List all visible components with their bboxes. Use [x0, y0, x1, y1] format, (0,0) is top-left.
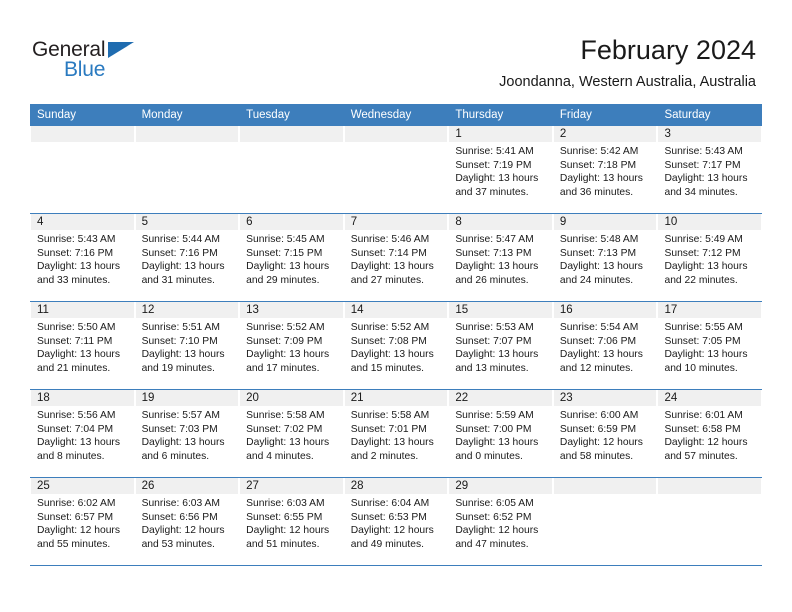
sunrise-text: Sunrise: 5:54 AM [560, 321, 651, 335]
day-sun-info: Sunrise: 5:53 AMSunset: 7:07 PMDaylight:… [449, 318, 552, 375]
weekday-header-tuesday: Tuesday [239, 104, 344, 126]
sunrise-text: Sunrise: 6:03 AM [142, 497, 233, 511]
day-number [31, 126, 134, 142]
daylight-text-line1: Daylight: 13 hours [351, 436, 442, 450]
day-sun-info: Sunrise: 5:58 AMSunset: 7:02 PMDaylight:… [240, 406, 343, 463]
day-number [345, 126, 448, 142]
day-number: 13 [240, 302, 343, 318]
day-number [240, 126, 343, 142]
calendar-day-cell[interactable]: 5Sunrise: 5:44 AMSunset: 7:16 PMDaylight… [135, 214, 240, 301]
day-number [658, 478, 761, 494]
sunset-text: Sunset: 6:56 PM [142, 511, 233, 525]
day-sun-info: Sunrise: 5:41 AMSunset: 7:19 PMDaylight:… [449, 142, 552, 199]
sunrise-text: Sunrise: 5:59 AM [455, 409, 546, 423]
calendar-day-cell[interactable]: 24Sunrise: 6:01 AMSunset: 6:58 PMDayligh… [657, 390, 762, 477]
sunrise-text: Sunrise: 5:52 AM [246, 321, 337, 335]
page-title: February 2024 [499, 34, 756, 66]
calendar-day-cell[interactable]: 8Sunrise: 5:47 AMSunset: 7:13 PMDaylight… [448, 214, 553, 301]
daylight-text-line2: and 2 minutes. [351, 450, 442, 464]
day-sun-info: Sunrise: 5:48 AMSunset: 7:13 PMDaylight:… [554, 230, 657, 287]
calendar-week-row: 1Sunrise: 5:41 AMSunset: 7:19 PMDaylight… [30, 126, 762, 214]
daylight-text-line2: and 29 minutes. [246, 274, 337, 288]
weekday-header-row: Sunday Monday Tuesday Wednesday Thursday… [30, 104, 762, 126]
sunset-text: Sunset: 6:59 PM [560, 423, 651, 437]
calendar-day-cell[interactable]: 3Sunrise: 5:43 AMSunset: 7:17 PMDaylight… [657, 126, 762, 213]
sunrise-text: Sunrise: 5:46 AM [351, 233, 442, 247]
daylight-text-line2: and 10 minutes. [664, 362, 755, 376]
sunset-text: Sunset: 7:01 PM [351, 423, 442, 437]
sunset-text: Sunset: 6:53 PM [351, 511, 442, 525]
day-number: 8 [449, 214, 552, 230]
calendar-day-cell[interactable]: 23Sunrise: 6:00 AMSunset: 6:59 PMDayligh… [553, 390, 658, 477]
calendar-day-cell[interactable]: 20Sunrise: 5:58 AMSunset: 7:02 PMDayligh… [239, 390, 344, 477]
sunset-text: Sunset: 7:07 PM [455, 335, 546, 349]
calendar-page: General Blue February 2024 Joondanna, We… [0, 0, 792, 612]
daylight-text-line1: Daylight: 13 hours [37, 260, 128, 274]
daylight-text-line2: and 24 minutes. [560, 274, 651, 288]
daylight-text-line2: and 6 minutes. [142, 450, 233, 464]
sunrise-text: Sunrise: 5:50 AM [37, 321, 128, 335]
day-sun-info: Sunrise: 6:04 AMSunset: 6:53 PMDaylight:… [345, 494, 448, 551]
calendar-week-row: 4Sunrise: 5:43 AMSunset: 7:16 PMDaylight… [30, 214, 762, 302]
day-number [554, 478, 657, 494]
daylight-text-line1: Daylight: 13 hours [246, 348, 337, 362]
day-sun-info: Sunrise: 5:47 AMSunset: 7:13 PMDaylight:… [449, 230, 552, 287]
calendar-day-cell[interactable]: 2Sunrise: 5:42 AMSunset: 7:18 PMDaylight… [553, 126, 658, 213]
daylight-text-line1: Daylight: 13 hours [351, 260, 442, 274]
sunrise-text: Sunrise: 5:42 AM [560, 145, 651, 159]
sunrise-text: Sunrise: 5:48 AM [560, 233, 651, 247]
sunrise-text: Sunrise: 6:03 AM [246, 497, 337, 511]
sunrise-text: Sunrise: 6:00 AM [560, 409, 651, 423]
weekday-header-wednesday: Wednesday [344, 104, 449, 126]
day-sun-info: Sunrise: 5:44 AMSunset: 7:16 PMDaylight:… [136, 230, 239, 287]
day-number: 11 [31, 302, 134, 318]
sunrise-text: Sunrise: 5:49 AM [664, 233, 755, 247]
sunrise-text: Sunrise: 5:43 AM [37, 233, 128, 247]
sunset-text: Sunset: 7:14 PM [351, 247, 442, 261]
sunrise-text: Sunrise: 6:04 AM [351, 497, 442, 511]
day-sun-info: Sunrise: 5:42 AMSunset: 7:18 PMDaylight:… [554, 142, 657, 199]
calendar-day-cell[interactable]: 11Sunrise: 5:50 AMSunset: 7:11 PMDayligh… [30, 302, 135, 389]
calendar-day-cell-empty [553, 478, 658, 565]
calendar-day-cell[interactable]: 26Sunrise: 6:03 AMSunset: 6:56 PMDayligh… [135, 478, 240, 565]
calendar-day-cell[interactable]: 27Sunrise: 6:03 AMSunset: 6:55 PMDayligh… [239, 478, 344, 565]
daylight-text-line2: and 4 minutes. [246, 450, 337, 464]
location-subtitle: Joondanna, Western Australia, Australia [499, 72, 756, 92]
sunset-text: Sunset: 7:05 PM [664, 335, 755, 349]
calendar-day-cell[interactable]: 15Sunrise: 5:53 AMSunset: 7:07 PMDayligh… [448, 302, 553, 389]
daylight-text-line1: Daylight: 12 hours [560, 436, 651, 450]
daylight-text-line1: Daylight: 13 hours [37, 436, 128, 450]
day-number: 29 [449, 478, 552, 494]
logo-text-blue: Blue [64, 58, 105, 82]
weekday-header-sunday: Sunday [30, 104, 135, 126]
day-sun-info: Sunrise: 6:02 AMSunset: 6:57 PMDaylight:… [31, 494, 134, 551]
calendar-day-cell[interactable]: 16Sunrise: 5:54 AMSunset: 7:06 PMDayligh… [553, 302, 658, 389]
day-number: 15 [449, 302, 552, 318]
daylight-text-line1: Daylight: 13 hours [664, 260, 755, 274]
daylight-text-line2: and 21 minutes. [37, 362, 128, 376]
sunrise-text: Sunrise: 5:55 AM [664, 321, 755, 335]
weekday-header-monday: Monday [135, 104, 240, 126]
day-sun-info: Sunrise: 6:00 AMSunset: 6:59 PMDaylight:… [554, 406, 657, 463]
day-sun-info: Sunrise: 5:54 AMSunset: 7:06 PMDaylight:… [554, 318, 657, 375]
day-number: 9 [554, 214, 657, 230]
day-sun-info: Sunrise: 5:56 AMSunset: 7:04 PMDaylight:… [31, 406, 134, 463]
calendar-day-cell-empty [239, 126, 344, 213]
day-number: 25 [31, 478, 134, 494]
day-number: 5 [136, 214, 239, 230]
sunrise-text: Sunrise: 5:53 AM [455, 321, 546, 335]
daylight-text-line1: Daylight: 13 hours [560, 172, 651, 186]
daylight-text-line1: Daylight: 13 hours [37, 348, 128, 362]
calendar-day-cell[interactable]: 25Sunrise: 6:02 AMSunset: 6:57 PMDayligh… [30, 478, 135, 565]
day-number: 16 [554, 302, 657, 318]
day-sun-info: Sunrise: 5:43 AMSunset: 7:17 PMDaylight:… [658, 142, 761, 199]
daylight-text-line1: Daylight: 13 hours [664, 348, 755, 362]
sunrise-text: Sunrise: 5:45 AM [246, 233, 337, 247]
calendar-day-cell[interactable]: 10Sunrise: 5:49 AMSunset: 7:12 PMDayligh… [657, 214, 762, 301]
calendar-day-cell-empty [135, 126, 240, 213]
day-number: 17 [658, 302, 761, 318]
sunset-text: Sunset: 7:11 PM [37, 335, 128, 349]
sunset-text: Sunset: 7:13 PM [455, 247, 546, 261]
weekday-header-thursday: Thursday [448, 104, 553, 126]
sunrise-text: Sunrise: 5:51 AM [142, 321, 233, 335]
day-number: 22 [449, 390, 552, 406]
sunset-text: Sunset: 7:03 PM [142, 423, 233, 437]
weekday-header-friday: Friday [553, 104, 658, 126]
daylight-text-line2: and 26 minutes. [455, 274, 546, 288]
daylight-text-line2: and 17 minutes. [246, 362, 337, 376]
calendar-day-cell[interactable]: 12Sunrise: 5:51 AMSunset: 7:10 PMDayligh… [135, 302, 240, 389]
daylight-text-line1: Daylight: 12 hours [246, 524, 337, 538]
day-number: 24 [658, 390, 761, 406]
calendar-day-cell[interactable]: 17Sunrise: 5:55 AMSunset: 7:05 PMDayligh… [657, 302, 762, 389]
sunrise-text: Sunrise: 5:58 AM [351, 409, 442, 423]
daylight-text-line1: Daylight: 12 hours [351, 524, 442, 538]
day-number: 10 [658, 214, 761, 230]
day-sun-info: Sunrise: 5:43 AMSunset: 7:16 PMDaylight:… [31, 230, 134, 287]
daylight-text-line1: Daylight: 13 hours [142, 436, 233, 450]
sunrise-text: Sunrise: 5:44 AM [142, 233, 233, 247]
daylight-text-line1: Daylight: 13 hours [246, 260, 337, 274]
sunset-text: Sunset: 7:16 PM [37, 247, 128, 261]
calendar-week-row: 11Sunrise: 5:50 AMSunset: 7:11 PMDayligh… [30, 302, 762, 390]
daylight-text-line1: Daylight: 12 hours [455, 524, 546, 538]
daylight-text-line2: and 49 minutes. [351, 538, 442, 552]
sunrise-text: Sunrise: 5:52 AM [351, 321, 442, 335]
day-number: 23 [554, 390, 657, 406]
calendar-day-cell[interactable]: 6Sunrise: 5:45 AMSunset: 7:15 PMDaylight… [239, 214, 344, 301]
generalblue-logo[interactable]: General Blue [32, 38, 172, 84]
sunrise-text: Sunrise: 5:47 AM [455, 233, 546, 247]
daylight-text-line2: and 31 minutes. [142, 274, 233, 288]
daylight-text-line2: and 8 minutes. [37, 450, 128, 464]
sunset-text: Sunset: 7:13 PM [560, 247, 651, 261]
calendar-body: 1Sunrise: 5:41 AMSunset: 7:19 PMDaylight… [30, 126, 762, 566]
day-number: 28 [345, 478, 448, 494]
day-sun-info: Sunrise: 5:51 AMSunset: 7:10 PMDaylight:… [136, 318, 239, 375]
day-sun-info: Sunrise: 5:46 AMSunset: 7:14 PMDaylight:… [345, 230, 448, 287]
day-sun-info: Sunrise: 6:03 AMSunset: 6:56 PMDaylight:… [136, 494, 239, 551]
daylight-text-line2: and 22 minutes. [664, 274, 755, 288]
daylight-text-line1: Daylight: 13 hours [246, 436, 337, 450]
day-number: 6 [240, 214, 343, 230]
sunset-text: Sunset: 7:18 PM [560, 159, 651, 173]
day-number: 19 [136, 390, 239, 406]
calendar-day-cell-empty [657, 478, 762, 565]
sunrise-text: Sunrise: 5:58 AM [246, 409, 337, 423]
daylight-text-line1: Daylight: 13 hours [560, 260, 651, 274]
calendar-day-cell[interactable]: 13Sunrise: 5:52 AMSunset: 7:09 PMDayligh… [239, 302, 344, 389]
day-number: 12 [136, 302, 239, 318]
sunrise-text: Sunrise: 5:56 AM [37, 409, 128, 423]
daylight-text-line1: Daylight: 12 hours [37, 524, 128, 538]
daylight-text-line1: Daylight: 13 hours [142, 260, 233, 274]
sunset-text: Sunset: 7:16 PM [142, 247, 233, 261]
daylight-text-line2: and 53 minutes. [142, 538, 233, 552]
daylight-text-line2: and 15 minutes. [351, 362, 442, 376]
calendar-day-cell-empty [344, 126, 449, 213]
sunset-text: Sunset: 7:15 PM [246, 247, 337, 261]
sunset-text: Sunset: 6:58 PM [664, 423, 755, 437]
day-number: 21 [345, 390, 448, 406]
day-sun-info: Sunrise: 6:01 AMSunset: 6:58 PMDaylight:… [658, 406, 761, 463]
calendar-day-cell[interactable]: 7Sunrise: 5:46 AMSunset: 7:14 PMDaylight… [344, 214, 449, 301]
weekday-header-saturday: Saturday [657, 104, 762, 126]
daylight-text-line2: and 58 minutes. [560, 450, 651, 464]
sunset-text: Sunset: 7:06 PM [560, 335, 651, 349]
day-sun-info: Sunrise: 5:57 AMSunset: 7:03 PMDaylight:… [136, 406, 239, 463]
day-sun-info: Sunrise: 6:05 AMSunset: 6:52 PMDaylight:… [449, 494, 552, 551]
calendar-table: Sunday Monday Tuesday Wednesday Thursday… [30, 104, 762, 566]
daylight-text-line2: and 37 minutes. [455, 186, 546, 200]
daylight-text-line2: and 34 minutes. [664, 186, 755, 200]
day-number: 26 [136, 478, 239, 494]
day-sun-info: Sunrise: 5:49 AMSunset: 7:12 PMDaylight:… [658, 230, 761, 287]
calendar-day-cell[interactable]: 22Sunrise: 5:59 AMSunset: 7:00 PMDayligh… [448, 390, 553, 477]
sunset-text: Sunset: 7:19 PM [455, 159, 546, 173]
daylight-text-line1: Daylight: 13 hours [455, 260, 546, 274]
calendar-day-cell[interactable]: 28Sunrise: 6:04 AMSunset: 6:53 PMDayligh… [344, 478, 449, 565]
daylight-text-line1: Daylight: 13 hours [664, 172, 755, 186]
day-number: 18 [31, 390, 134, 406]
sunrise-text: Sunrise: 6:01 AM [664, 409, 755, 423]
sunset-text: Sunset: 6:57 PM [37, 511, 128, 525]
day-number: 1 [449, 126, 552, 142]
day-number [136, 126, 239, 142]
daylight-text-line2: and 57 minutes. [664, 450, 755, 464]
calendar-day-cell[interactable]: 19Sunrise: 5:57 AMSunset: 7:03 PMDayligh… [135, 390, 240, 477]
day-sun-info: Sunrise: 5:50 AMSunset: 7:11 PMDaylight:… [31, 318, 134, 375]
day-number: 27 [240, 478, 343, 494]
calendar-day-cell[interactable]: 18Sunrise: 5:56 AMSunset: 7:04 PMDayligh… [30, 390, 135, 477]
calendar-week-row: 25Sunrise: 6:02 AMSunset: 6:57 PMDayligh… [30, 478, 762, 566]
sunrise-text: Sunrise: 6:05 AM [455, 497, 546, 511]
daylight-text-line2: and 12 minutes. [560, 362, 651, 376]
sunset-text: Sunset: 7:04 PM [37, 423, 128, 437]
sunset-text: Sunset: 7:02 PM [246, 423, 337, 437]
sunrise-text: Sunrise: 5:41 AM [455, 145, 546, 159]
daylight-text-line1: Daylight: 12 hours [664, 436, 755, 450]
daylight-text-line1: Daylight: 13 hours [455, 172, 546, 186]
sunset-text: Sunset: 7:08 PM [351, 335, 442, 349]
day-number: 4 [31, 214, 134, 230]
day-number: 3 [658, 126, 761, 142]
daylight-text-line2: and 33 minutes. [37, 274, 128, 288]
title-block: February 2024 Joondanna, Western Austral… [499, 34, 756, 92]
day-number: 2 [554, 126, 657, 142]
daylight-text-line2: and 36 minutes. [560, 186, 651, 200]
daylight-text-line2: and 47 minutes. [455, 538, 546, 552]
page-header: General Blue February 2024 Joondanna, We… [0, 0, 792, 104]
day-number: 14 [345, 302, 448, 318]
day-sun-info: Sunrise: 5:45 AMSunset: 7:15 PMDaylight:… [240, 230, 343, 287]
sunrise-text: Sunrise: 6:02 AM [37, 497, 128, 511]
daylight-text-line1: Daylight: 13 hours [142, 348, 233, 362]
daylight-text-line2: and 19 minutes. [142, 362, 233, 376]
calendar-day-cell[interactable]: 14Sunrise: 5:52 AMSunset: 7:08 PMDayligh… [344, 302, 449, 389]
sunset-text: Sunset: 7:00 PM [455, 423, 546, 437]
day-sun-info: Sunrise: 5:59 AMSunset: 7:00 PMDaylight:… [449, 406, 552, 463]
day-sun-info: Sunrise: 5:58 AMSunset: 7:01 PMDaylight:… [345, 406, 448, 463]
sunset-text: Sunset: 7:09 PM [246, 335, 337, 349]
daylight-text-line1: Daylight: 12 hours [142, 524, 233, 538]
sunset-text: Sunset: 6:55 PM [246, 511, 337, 525]
sunset-text: Sunset: 7:10 PM [142, 335, 233, 349]
calendar-day-cell[interactable]: 4Sunrise: 5:43 AMSunset: 7:16 PMDaylight… [30, 214, 135, 301]
daylight-text-line2: and 27 minutes. [351, 274, 442, 288]
calendar-day-cell[interactable]: 21Sunrise: 5:58 AMSunset: 7:01 PMDayligh… [344, 390, 449, 477]
daylight-text-line1: Daylight: 13 hours [560, 348, 651, 362]
calendar-week-row: 18Sunrise: 5:56 AMSunset: 7:04 PMDayligh… [30, 390, 762, 478]
daylight-text-line2: and 0 minutes. [455, 450, 546, 464]
calendar-day-cell[interactable]: 29Sunrise: 6:05 AMSunset: 6:52 PMDayligh… [448, 478, 553, 565]
sunset-text: Sunset: 6:52 PM [455, 511, 546, 525]
daylight-text-line2: and 55 minutes. [37, 538, 128, 552]
daylight-text-line2: and 51 minutes. [246, 538, 337, 552]
logo-triangle-icon [108, 42, 134, 58]
day-sun-info: Sunrise: 6:03 AMSunset: 6:55 PMDaylight:… [240, 494, 343, 551]
day-number: 7 [345, 214, 448, 230]
day-sun-info: Sunrise: 5:52 AMSunset: 7:08 PMDaylight:… [345, 318, 448, 375]
sunset-text: Sunset: 7:17 PM [664, 159, 755, 173]
daylight-text-line1: Daylight: 13 hours [455, 348, 546, 362]
daylight-text-line2: and 13 minutes. [455, 362, 546, 376]
calendar-day-cell[interactable]: 9Sunrise: 5:48 AMSunset: 7:13 PMDaylight… [553, 214, 658, 301]
sunrise-text: Sunrise: 5:57 AM [142, 409, 233, 423]
calendar-day-cell-empty [30, 126, 135, 213]
sunset-text: Sunset: 7:12 PM [664, 247, 755, 261]
daylight-text-line1: Daylight: 13 hours [455, 436, 546, 450]
sunrise-text: Sunrise: 5:43 AM [664, 145, 755, 159]
day-number: 20 [240, 390, 343, 406]
daylight-text-line1: Daylight: 13 hours [351, 348, 442, 362]
calendar-day-cell[interactable]: 1Sunrise: 5:41 AMSunset: 7:19 PMDaylight… [448, 126, 553, 213]
day-sun-info: Sunrise: 5:55 AMSunset: 7:05 PMDaylight:… [658, 318, 761, 375]
day-sun-info: Sunrise: 5:52 AMSunset: 7:09 PMDaylight:… [240, 318, 343, 375]
